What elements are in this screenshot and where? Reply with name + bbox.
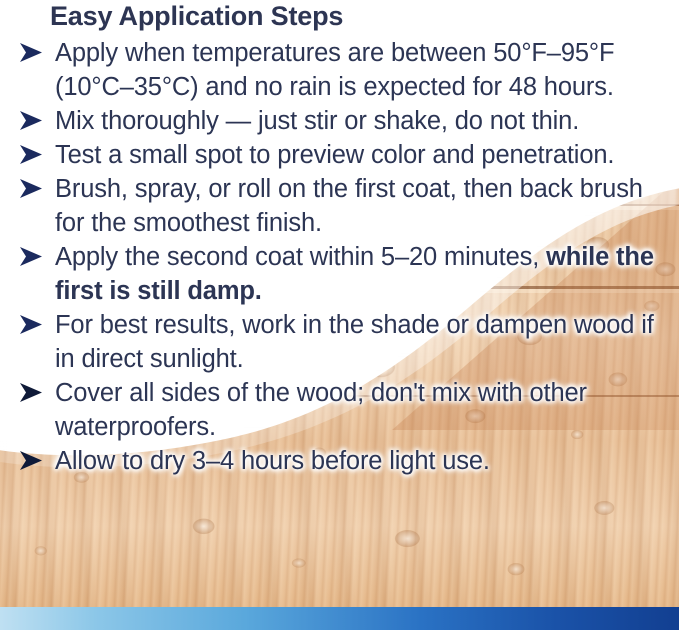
arrow-right-triangle-icon xyxy=(19,383,43,402)
list-item: For best results, work in the shade or d… xyxy=(0,308,679,376)
arrow-right-triangle-icon xyxy=(19,315,43,334)
list-item: Apply the second coat within 5–20 minute… xyxy=(0,240,679,308)
arrow-right-triangle-icon xyxy=(19,179,43,198)
list-item: Test a small spot to preview color and p… xyxy=(0,138,679,172)
steps-list: Apply when temperatures are between 50°F… xyxy=(0,36,679,478)
list-item: Apply when temperatures are between 50°F… xyxy=(0,36,679,104)
list-item-label: Allow to dry 3–4 hours before light use. xyxy=(55,444,675,478)
list-item: Mix thoroughly — just stir or shake, do … xyxy=(0,104,679,138)
arrow-right-triangle-icon xyxy=(19,451,43,470)
list-item: Allow to dry 3–4 hours before light use. xyxy=(0,444,679,478)
list-item: Brush, spray, or roll on the first coat,… xyxy=(0,172,679,240)
list-item: Cover all sides of the wood; don't mix w… xyxy=(0,376,679,444)
list-item-label: Apply the second coat within 5–20 minute… xyxy=(55,240,675,308)
list-item-label: Brush, spray, or roll on the first coat,… xyxy=(55,172,675,240)
list-item-label-regular: Apply the second coat within 5–20 minute… xyxy=(55,243,546,271)
content-layer: Easy Application Steps Apply when temper… xyxy=(0,0,679,630)
list-item-label: For best results, work in the shade or d… xyxy=(55,308,675,376)
arrow-right-triangle-icon xyxy=(19,111,43,130)
application-steps-panel: Easy Application Steps Apply when temper… xyxy=(0,0,679,630)
page-title: Easy Application Steps xyxy=(50,1,343,32)
list-item-label: Test a small spot to preview color and p… xyxy=(55,138,675,172)
list-item-label: Mix thoroughly — just stir or shake, do … xyxy=(55,104,675,138)
arrow-right-triangle-icon xyxy=(19,43,43,62)
list-item-label: Apply when temperatures are between 50°F… xyxy=(55,36,675,104)
arrow-right-triangle-icon xyxy=(19,145,43,164)
arrow-right-triangle-icon xyxy=(19,247,43,266)
list-item-label: Cover all sides of the wood; don't mix w… xyxy=(55,376,675,444)
